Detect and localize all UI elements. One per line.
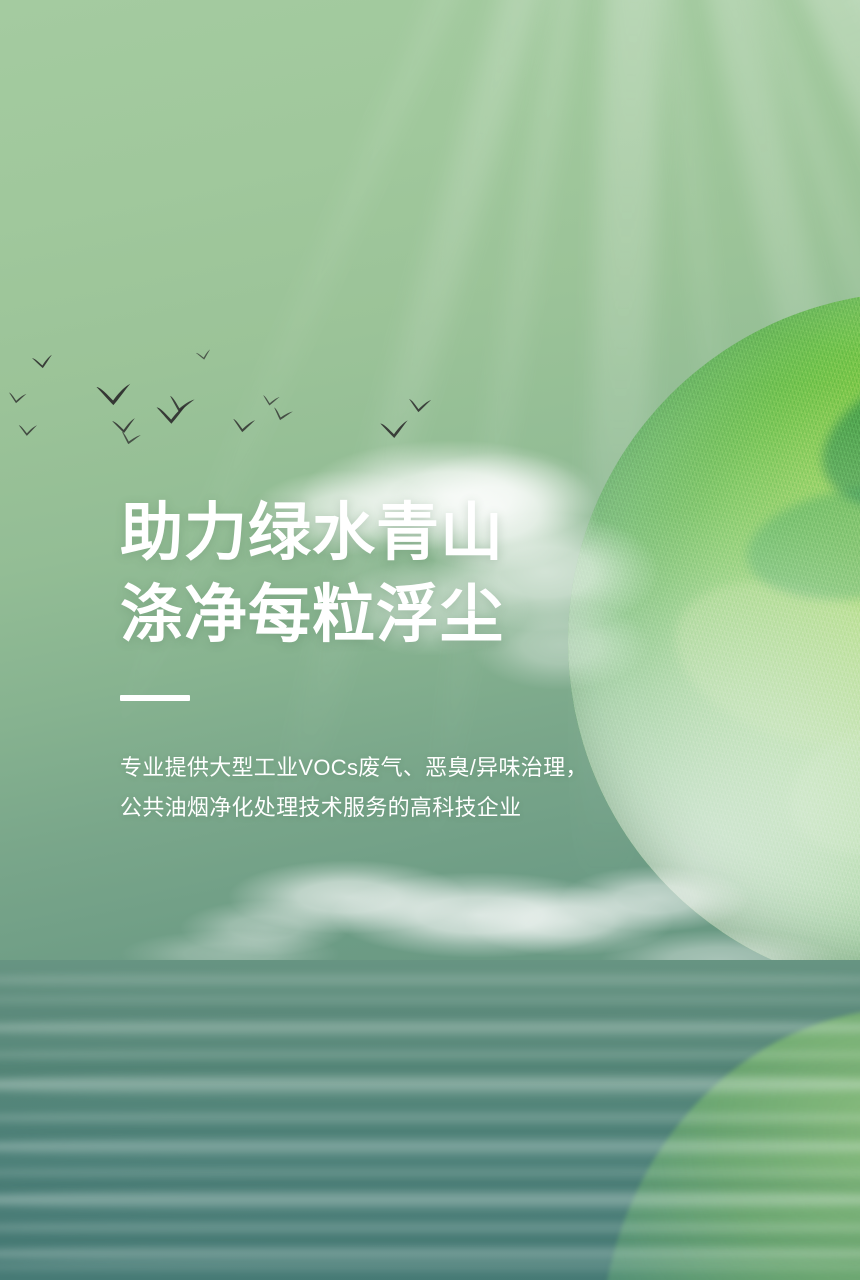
subtitle-line-1: 专业提供大型工业VOCs废气、恶臭/异味治理， xyxy=(120,748,680,788)
headline-line-1: 助力绿水青山 xyxy=(120,492,680,574)
water-ripple xyxy=(0,972,860,988)
water-ripple xyxy=(0,1048,860,1062)
water-ripple xyxy=(0,1136,860,1158)
water-ripple xyxy=(0,994,860,1006)
divider-rule xyxy=(120,695,190,701)
water-ripple xyxy=(0,1220,860,1236)
water-ripple xyxy=(0,1244,860,1264)
headline-line-2: 涤净每粒浮尘 xyxy=(120,574,680,656)
water-ripple-dark xyxy=(0,1060,860,1078)
subtitle-line-2: 公共油烟净化处理技术服务的高科技企业 xyxy=(120,788,680,828)
water-ripple-dark xyxy=(0,1232,860,1248)
water-ripple xyxy=(0,1188,860,1212)
water-surface xyxy=(0,960,860,1280)
water-ripples xyxy=(0,960,860,1280)
water-ripple xyxy=(0,1018,860,1038)
water-ripple xyxy=(0,1110,860,1126)
water-ripple-dark xyxy=(0,1124,860,1140)
banner-content: 助力绿水青山 涤净每粒浮尘 专业提供大型工业VOCs废气、恶臭/异味治理， 公共… xyxy=(120,492,680,828)
water-ripple xyxy=(0,1072,860,1098)
promo-banner: 助力绿水青山 涤净每粒浮尘 专业提供大型工业VOCs废气、恶臭/异味治理， 公共… xyxy=(0,0,860,1280)
water-ripple xyxy=(0,1260,860,1274)
water-ripple xyxy=(0,1166,860,1180)
water-ripple-dark xyxy=(0,1176,860,1194)
water-ripple-dark xyxy=(0,1006,860,1020)
